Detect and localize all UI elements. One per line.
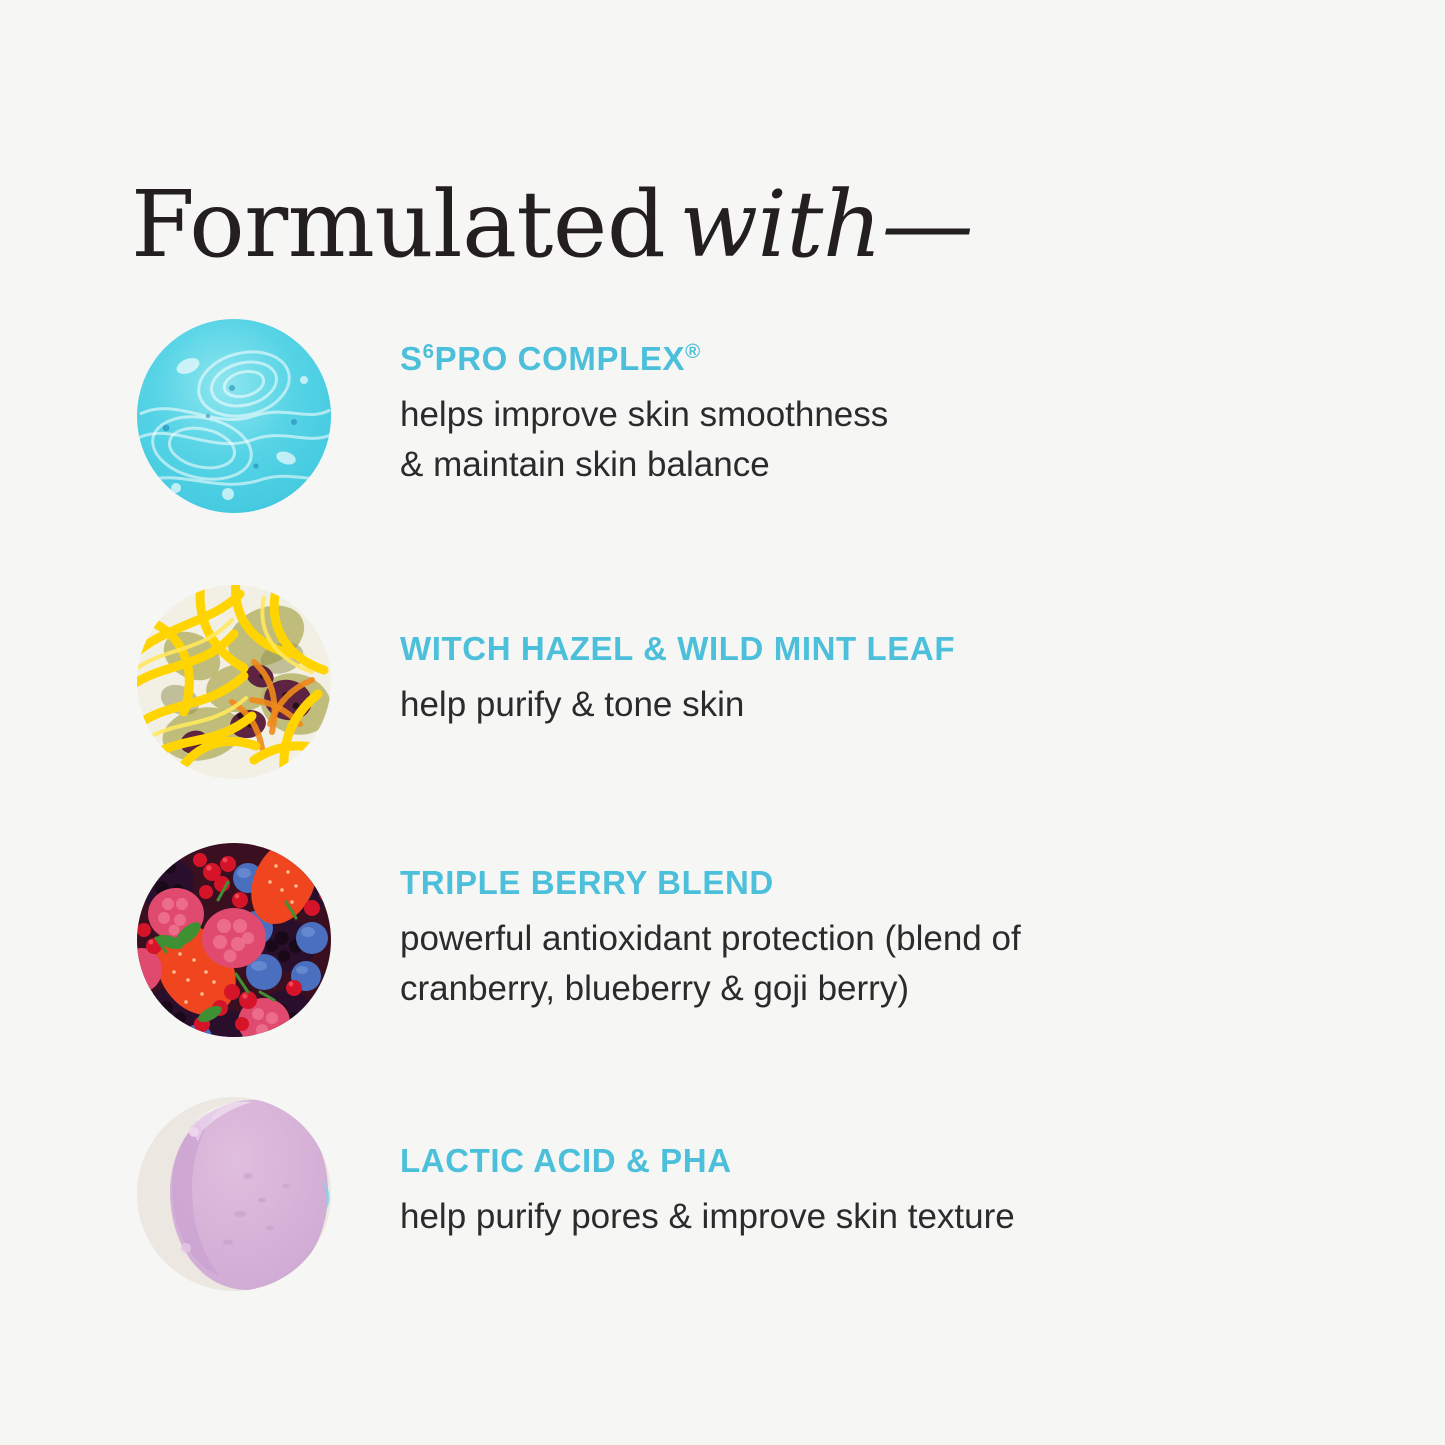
registered-trademark-icon: ® <box>685 340 701 363</box>
witch-hazel-flower-image <box>136 584 332 780</box>
ingredient-description-line: cranberry, blueberry & goji berry) <box>400 964 1220 1014</box>
ingredient-thumbnail-wrap <box>136 1096 332 1292</box>
list-item: S6PRO COMPLEX® helps improve skin smooth… <box>0 318 1445 514</box>
ingredient-title: WITCH HAZEL & WILD MINT LEAF <box>400 630 1220 668</box>
ingredient-description: help purify & tone skin <box>400 680 1220 730</box>
ingredient-description: help purify pores & improve skin texture <box>400 1192 1220 1242</box>
ingredient-text: S6PRO COMPLEX® helps improve skin smooth… <box>400 318 1220 489</box>
formulated-with-panel: Formulatedwith— <box>0 0 1445 1445</box>
ingredient-text: WITCH HAZEL & WILD MINT LEAF help purify… <box>400 584 1220 730</box>
ingredient-text: TRIPLE BERRY BLEND powerful antioxidant … <box>400 842 1220 1013</box>
list-item: TRIPLE BERRY BLEND powerful antioxidant … <box>0 842 1445 1038</box>
ingredient-thumbnail-wrap <box>136 318 332 514</box>
ingredient-description-line: help purify & tone skin <box>400 680 1220 730</box>
mixed-berries-image <box>136 842 332 1038</box>
ingredient-description: powerful antioxidant protection (blend o… <box>400 914 1220 1013</box>
ingredient-thumbnail-wrap <box>136 584 332 780</box>
ingredient-title-superscript: 6 <box>423 340 435 363</box>
ingredient-description-line: & maintain skin balance <box>400 440 1220 490</box>
ingredient-title: TRIPLE BERRY BLEND <box>400 864 1220 902</box>
list-item: LACTIC ACID & PHA help purify pores & im… <box>0 1096 1445 1292</box>
ingredient-title-rest: PRO COMPLEX <box>435 340 685 377</box>
ingredient-description-line: help purify pores & improve skin texture <box>400 1192 1220 1242</box>
ingredient-thumbnail-wrap <box>136 842 332 1038</box>
ingredient-title-prefix: S <box>400 340 423 377</box>
lilac-cream-swatch-image <box>136 1096 332 1292</box>
page-title: Formulatedwith— <box>131 178 973 271</box>
ingredient-description: helps improve skin smoothness & maintain… <box>400 390 1220 489</box>
blue-gel-swatch-image <box>136 318 332 514</box>
list-item: WITCH HAZEL & WILD MINT LEAF help purify… <box>0 584 1445 780</box>
ingredient-title: LACTIC ACID & PHA <box>400 1142 1220 1180</box>
ingredients-list: S6PRO COMPLEX® helps improve skin smooth… <box>0 318 1445 1292</box>
ingredient-text: LACTIC ACID & PHA help purify pores & im… <box>400 1096 1220 1242</box>
ingredient-title: S6PRO COMPLEX® <box>400 340 1220 378</box>
ingredient-description-line: helps improve skin smoothness <box>400 390 1220 440</box>
page-title-regular: Formulated <box>131 171 665 278</box>
ingredient-description-line: powerful antioxidant protection (blend o… <box>400 914 1220 964</box>
page-title-italic: with— <box>679 171 973 278</box>
